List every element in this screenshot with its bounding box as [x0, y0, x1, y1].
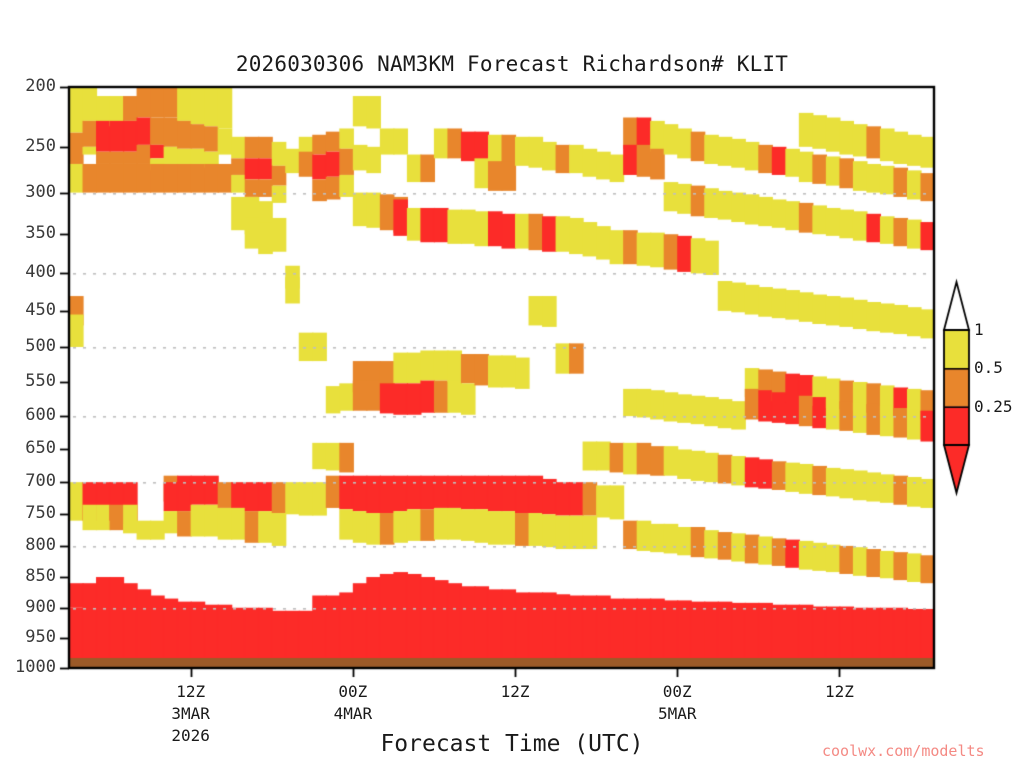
chart-root: 2026030306 NAM3KM Forecast Richardson# K…: [0, 0, 1024, 768]
y-tick-950: 950: [0, 627, 56, 647]
y-tick-450: 450: [0, 300, 56, 320]
page-title: 2026030306 NAM3KM Forecast Richardson# K…: [0, 52, 1024, 76]
y-tick-500: 500: [0, 336, 56, 356]
y-tick-1000: 1000: [0, 657, 56, 677]
y-tick-700: 700: [0, 471, 56, 491]
y-tick-650: 650: [0, 438, 56, 458]
richardson-number-timeheight-chart: [0, 0, 1024, 768]
x-tick-date-1: 4MAR: [303, 704, 403, 723]
y-tick-600: 600: [0, 405, 56, 425]
x-tick-time-2: 12Z: [465, 682, 565, 701]
y-tick-400: 400: [0, 262, 56, 282]
colorbar-tick-0.5: 0.5: [974, 358, 1003, 377]
x-tick-date-3: 5MAR: [627, 704, 727, 723]
y-tick-300: 300: [0, 182, 56, 202]
x-tick-time-1: 00Z: [303, 682, 403, 701]
x-tick-time-4: 12Z: [789, 682, 889, 701]
y-tick-200: 200: [0, 76, 56, 96]
y-tick-800: 800: [0, 535, 56, 555]
watermark: coolwx.com/modelts: [822, 742, 985, 760]
x-tick-time-3: 00Z: [627, 682, 727, 701]
y-tick-550: 550: [0, 371, 56, 391]
y-tick-250: 250: [0, 136, 56, 156]
y-tick-900: 900: [0, 597, 56, 617]
y-tick-750: 750: [0, 503, 56, 523]
colorbar-tick-0.25: 0.25: [974, 397, 1013, 416]
x-tick-year-0: 2026: [141, 726, 241, 745]
x-tick-date-0: 3MAR: [141, 704, 241, 723]
colorbar-tick-1: 1: [974, 320, 984, 339]
y-tick-850: 850: [0, 566, 56, 586]
y-tick-350: 350: [0, 223, 56, 243]
x-tick-time-0: 12Z: [141, 682, 241, 701]
